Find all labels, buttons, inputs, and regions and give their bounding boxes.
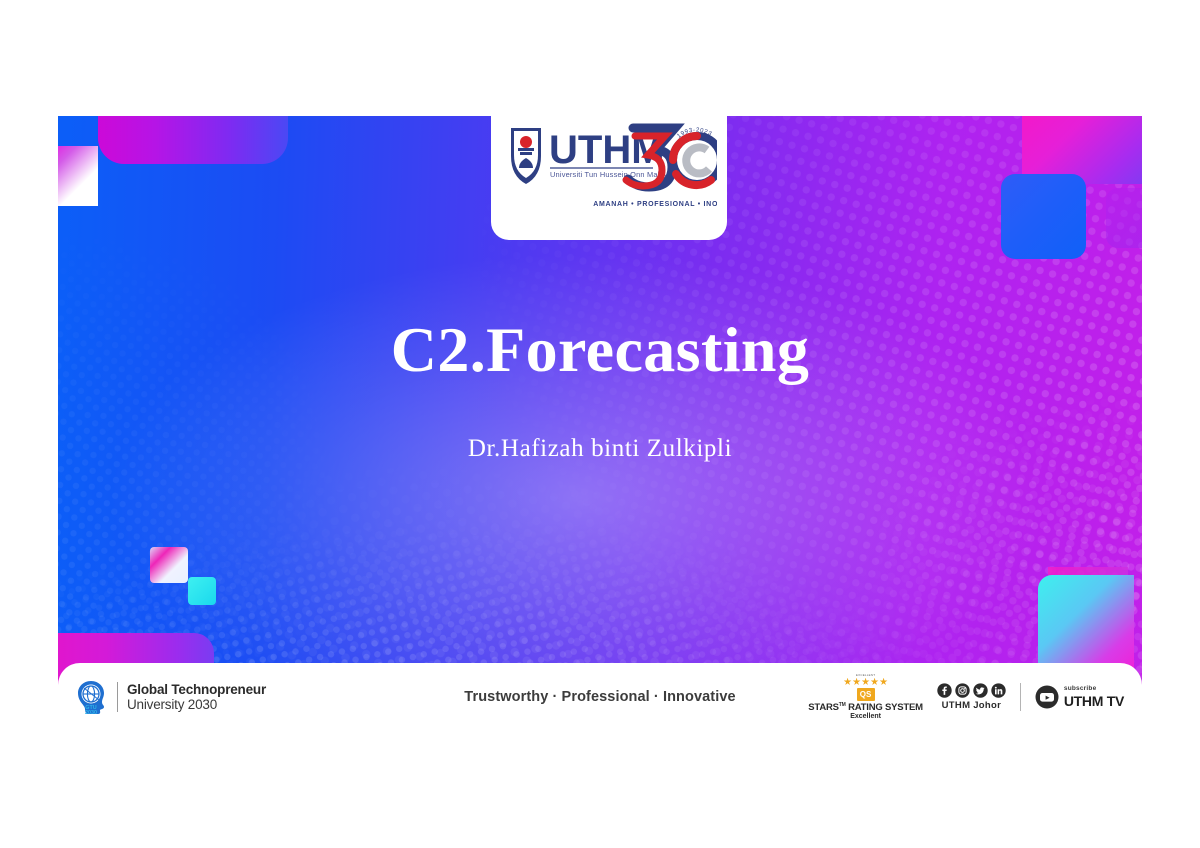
anniversary-tagline: AMANAH • PROFESIONAL • INOVATIF (593, 201, 717, 208)
star-icon (853, 678, 861, 686)
instagram-icon[interactable] (955, 683, 970, 698)
uthm-tv-wordmark: subscribe UTHM TV (1064, 686, 1124, 708)
decor-block-top-right-blue (1001, 174, 1086, 259)
qs-star-row (808, 678, 923, 686)
uthm-logo-card: UTHM Universiti Tun Hussein Onn Malaysia (491, 116, 727, 240)
uthm-tv-group[interactable]: subscribe UTHM TV (1035, 685, 1124, 709)
social-handle-label: UTHM Johor (937, 700, 1006, 711)
decor-block-top-right-small (1106, 188, 1142, 248)
decor-block-bottom-left-square (150, 547, 188, 583)
decor-block-top-left-square (58, 146, 98, 206)
slide-footer: GTU 2030 Global Technopreneur University… (58, 663, 1142, 731)
social-icon-row (937, 683, 1006, 698)
uthm-anniversary-logo: UTHM Universiti Tun Hussein Onn Malaysia (501, 116, 717, 218)
page-title: C2.Forecasting (58, 316, 1142, 383)
star-icon (880, 678, 888, 686)
qs-rating-value: Excellent (808, 713, 923, 720)
linkedin-icon[interactable] (991, 683, 1006, 698)
qs-logo-box: QS (857, 688, 875, 701)
decor-block-bottom-right-cyan (1038, 575, 1134, 671)
decor-block-bottom-left-cyan (188, 577, 216, 605)
qs-rating-system-label: STARSTM RATING SYSTEM (808, 703, 923, 713)
presentation-slide: UTHM Universiti Tun Hussein Onn Malaysia (58, 116, 1142, 731)
youtube-icon[interactable] (1035, 685, 1059, 709)
facebook-icon[interactable] (937, 683, 952, 698)
uthm-tv-label: UTHM TV (1064, 694, 1124, 708)
decor-block-top-left-bar (98, 116, 288, 164)
footer-right-group: EXCELLENT QS STARSTM RATING SYSTEM Excel… (808, 674, 1124, 721)
presenter-name: Dr.Hafizah binti Zulkipli (58, 435, 1142, 463)
qs-stars-rating-badge: EXCELLENT QS STARSTM RATING SYSTEM Excel… (808, 674, 923, 721)
social-media-group: UTHM Johor (937, 683, 1006, 711)
star-icon (862, 678, 870, 686)
star-icon (871, 678, 879, 686)
star-icon (844, 678, 852, 686)
svg-text:2030: 2030 (85, 710, 97, 715)
uthm-crest-icon (511, 128, 541, 184)
subscribe-label: subscribe (1064, 686, 1124, 693)
qs-top-label: EXCELLENT (808, 674, 923, 677)
footer-divider (1020, 683, 1021, 711)
twitter-icon[interactable] (973, 683, 988, 698)
title-block: C2.Forecasting Dr.Hafizah binti Zulkipli (58, 316, 1142, 463)
